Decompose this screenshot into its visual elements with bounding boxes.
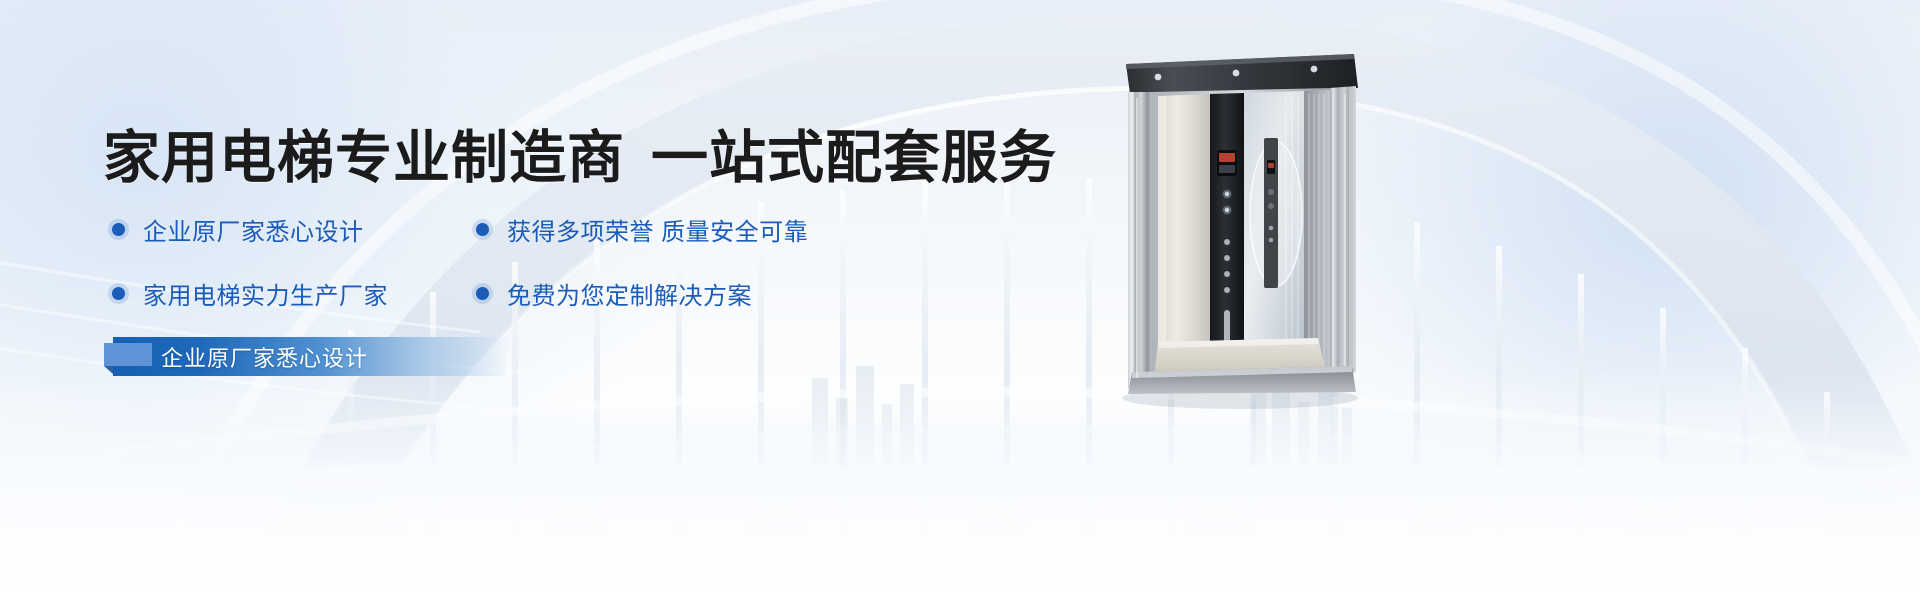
bullet-dot-icon bbox=[112, 223, 125, 236]
list-item-label: 企业原厂家悉心设计 bbox=[143, 212, 364, 247]
headline-part-1: 家用电梯专业制造商 bbox=[103, 126, 625, 190]
home-elevator-image bbox=[1118, 42, 1363, 410]
feature-row: 企业原厂家悉心设计 获得多项荣誉 质量安全可靠 bbox=[112, 212, 912, 247]
highlight-tag[interactable]: 企业原厂家悉心设计 bbox=[113, 337, 506, 376]
list-item-label: 获得多项荣誉 质量安全可靠 bbox=[507, 212, 808, 247]
banner-content: 家用电梯专业制造商一站式配套服务 企业原厂家悉心设计 获得多项荣誉 质量安全可靠… bbox=[0, 0, 1100, 600]
bullet-dot-icon bbox=[476, 223, 489, 236]
bullet-dot-icon bbox=[112, 287, 125, 300]
list-item-label: 家用电梯实力生产厂家 bbox=[143, 276, 388, 311]
headline-part-2: 一站式配套服务 bbox=[651, 126, 1057, 190]
page-title: 家用电梯专业制造商一站式配套服务 bbox=[103, 112, 1057, 194]
list-item-label: 免费为您定制解决方案 bbox=[507, 276, 752, 311]
tag-label: 企业原厂家悉心设计 bbox=[161, 341, 368, 373]
tag-flag-icon bbox=[104, 343, 152, 366]
feature-list: 企业原厂家悉心设计 获得多项荣誉 质量安全可靠 家用电梯实力生产厂家 免费为您定… bbox=[112, 212, 912, 311]
feature-row: 家用电梯实力生产厂家 免费为您定制解决方案 bbox=[112, 276, 912, 311]
list-item: 家用电梯实力生产厂家 bbox=[112, 276, 476, 311]
list-item: 企业原厂家悉心设计 bbox=[112, 212, 476, 247]
list-item: 获得多项荣誉 质量安全可靠 bbox=[476, 212, 808, 247]
bullet-dot-icon bbox=[476, 287, 489, 300]
promo-banner: 家用电梯专业制造商一站式配套服务 企业原厂家悉心设计 获得多项荣誉 质量安全可靠… bbox=[0, 0, 1920, 600]
list-item: 免费为您定制解决方案 bbox=[476, 276, 752, 311]
